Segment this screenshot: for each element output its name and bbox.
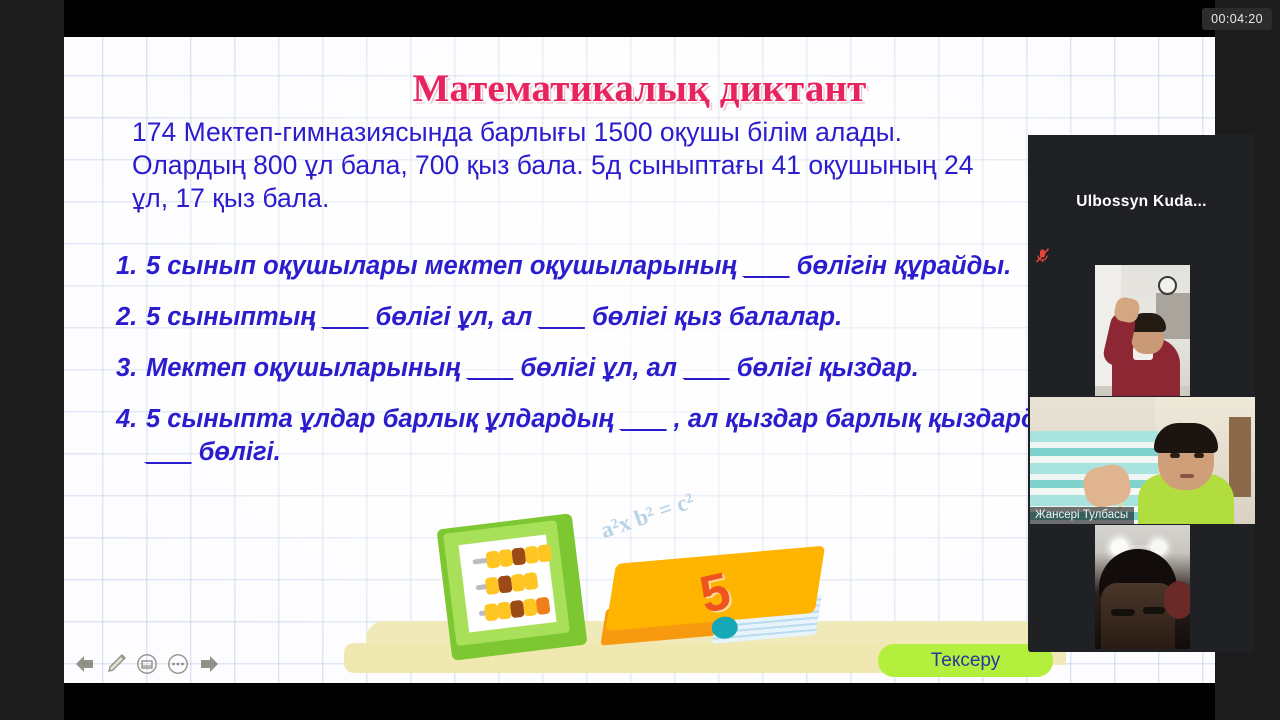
question-text-part: бөлігі қыздар. (730, 354, 919, 382)
pencil-icon[interactable] (105, 653, 127, 675)
question-text-part: 5 сыныпта ұлдар барлық ұлдардың (146, 405, 621, 433)
participant-video (1095, 525, 1190, 649)
question-text-part: 5 сыныптың (146, 303, 323, 331)
question-number: 3. (116, 352, 146, 385)
letterbox-top (64, 0, 1215, 37)
answer-blank[interactable]: ___ (744, 252, 790, 280)
microphone-muted-icon (1034, 247, 1051, 264)
participant-tile[interactable]: Жансері Тулбасы (1030, 397, 1255, 524)
question-text-part: бөлігі. (192, 438, 281, 466)
meeting-timer: 00:04:20 (1202, 8, 1272, 30)
math-illustration: a²x b² = c² (344, 508, 964, 683)
active-speaker-tile[interactable]: Ulbossyn Kuda... (1028, 135, 1255, 262)
question-text-part: бөлігі ұл, ал (513, 354, 684, 382)
active-speaker-name: Ulbossyn Kuda... (1028, 193, 1255, 211)
list-item: 1. 5 сынып оқушылары мектеп оқушыларының… (116, 250, 1116, 283)
problem-statement: 174 Мектеп-гимназиясында барлығы 1500 оқ… (132, 116, 1002, 215)
question-text: 5 сыныптың ___ бөлігі ұл, ал ___ бөлігі … (146, 301, 1116, 334)
question-text-part: , ал қыздар барлық қыздардың (667, 405, 1074, 433)
answer-blank[interactable]: ___ (684, 354, 730, 382)
participant-tile[interactable]: ДИАР (1095, 265, 1190, 396)
back-arrow-icon[interactable] (72, 654, 96, 674)
answer-blank[interactable]: ___ (539, 303, 585, 331)
question-text-part: Мектеп оқушыларының (146, 354, 468, 382)
question-number: 1. (116, 250, 146, 283)
more-options-icon[interactable] (167, 653, 189, 675)
screen: Математикалық диктант 174 Мектеп-гимнази… (0, 0, 1280, 720)
answer-blank[interactable]: ___ (146, 438, 192, 466)
answer-blank[interactable]: ___ (621, 405, 667, 433)
slide-toolbar (72, 653, 222, 675)
slide-title: Математикалық диктант (64, 66, 1215, 111)
question-text-part: бөлігі қыз балалар. (585, 303, 842, 331)
question-text: 5 сынып оқушылары мектеп оқушыларының __… (146, 250, 1116, 283)
video-participant-panel[interactable]: Ulbossyn Kuda... ДИАР (1028, 135, 1255, 652)
letterbox-bottom (64, 683, 1215, 720)
whiteboard-icon[interactable] (136, 653, 158, 675)
question-text-part: 5 сынып оқушылары мектеп оқушыларының (146, 252, 744, 280)
participant-tile[interactable]: Азиз (1095, 525, 1190, 649)
participant-name: Жансері Тулбасы (1030, 507, 1134, 524)
participant-video (1095, 265, 1190, 396)
book-icon: 5 (590, 546, 828, 671)
question-text-part: бөлігі ұл, ал (368, 303, 539, 331)
question-text: 5 сыныпта ұлдар барлық ұлдардың ___ , ал… (146, 403, 1116, 469)
answer-blank[interactable]: ___ (468, 354, 514, 382)
list-item: 3. Мектеп оқушыларының ___ бөлігі ұл, ал… (116, 352, 1116, 385)
question-number: 2. (116, 301, 146, 334)
participant-video (1030, 397, 1255, 524)
question-number: 4. (116, 403, 146, 469)
abacus-icon (436, 513, 587, 661)
question-list: 1. 5 сынып оқушылары мектеп оқушыларының… (116, 250, 1116, 487)
question-text-part: бөлігін құрайды. (790, 252, 1012, 280)
list-item: 4. 5 сыныпта ұлдар барлық ұлдардың ___ ,… (116, 403, 1116, 469)
check-button[interactable]: Тексеру (878, 644, 1053, 677)
answer-blank[interactable]: ___ (323, 303, 369, 331)
list-item: 2. 5 сыныптың ___ бөлігі ұл, ал ___ бөлі… (116, 301, 1116, 334)
question-text: Мектеп оқушыларының ___ бөлігі ұл, ал __… (146, 352, 1116, 385)
forward-arrow-icon[interactable] (198, 654, 222, 674)
